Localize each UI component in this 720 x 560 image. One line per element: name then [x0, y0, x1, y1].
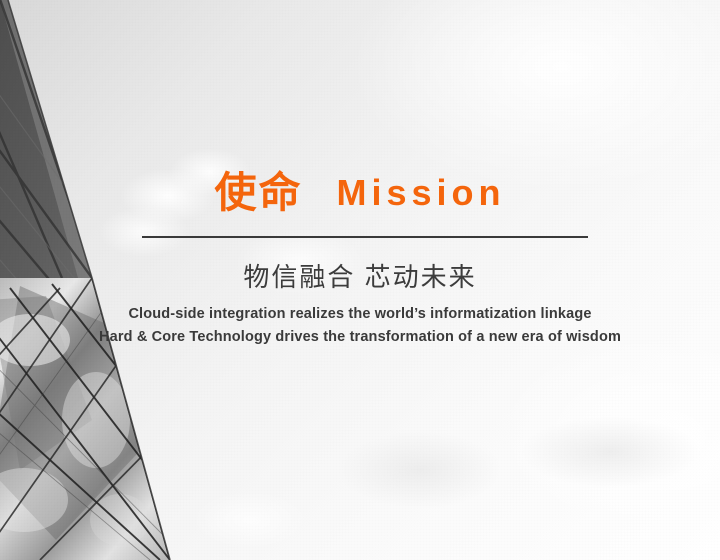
mission-banner: 使命Mission 物信融合 芯动未来 Cloud-side integrati… [0, 0, 720, 560]
title-english: Mission [337, 172, 506, 213]
tagline-group: Cloud-side integration realizes the worl… [0, 303, 720, 349]
tagline-line-2: Hard & Core Technology drives the transf… [0, 326, 720, 349]
tagline-line-1: Cloud-side integration realizes the worl… [0, 303, 720, 326]
subtitle-chinese: 物信融合 芯动未来 [0, 261, 720, 294]
page-title: 使命Mission [0, 172, 720, 214]
title-chinese: 使命 [214, 169, 302, 216]
title-divider [142, 236, 588, 238]
